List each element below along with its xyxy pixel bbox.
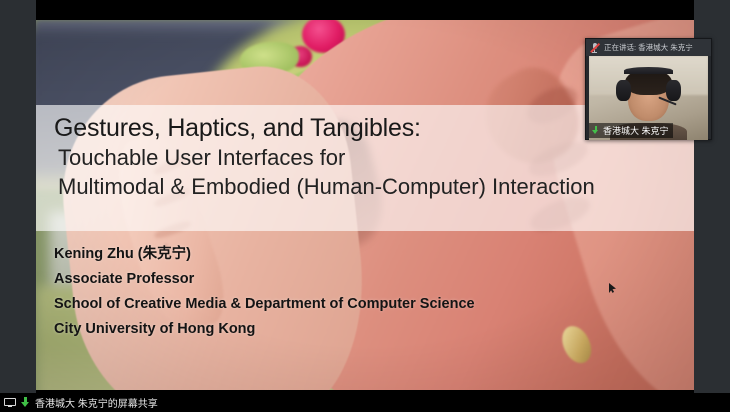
affiliation-line: Kening Zhu (朱克宁) bbox=[54, 242, 475, 267]
headphone-icon bbox=[666, 80, 680, 102]
headphone-icon bbox=[616, 80, 630, 102]
green-down-arrow-icon bbox=[591, 126, 600, 135]
slide-title-line-3: Multimodal & Embodied (Human-Computer) I… bbox=[54, 172, 694, 201]
video-thumbnail-panel[interactable]: 正在讲话: 香港城大 朱克宁 香港城大 朱克宁 bbox=[585, 38, 712, 140]
screen-share-status-bar: 香港城大 朱克宁的屏幕共享 bbox=[0, 393, 730, 412]
participant-name-badge: 香港城大 朱克宁 bbox=[589, 123, 673, 138]
slide-affiliation-block: Kening Zhu (朱克宁) Associate Professor Sch… bbox=[54, 242, 475, 342]
affiliation-line: City University of Hong Kong bbox=[54, 317, 475, 342]
monitor-icon bbox=[4, 398, 16, 408]
slide-title-line-2: Touchable User Interfaces for bbox=[54, 143, 694, 172]
green-down-arrow-icon bbox=[20, 397, 31, 408]
letterbox-top bbox=[36, 0, 694, 20]
microphone-muted-icon bbox=[590, 42, 599, 53]
affiliation-line: Associate Professor bbox=[54, 267, 475, 292]
participant-name-label: 香港城大 朱克宁 bbox=[603, 124, 669, 137]
status-bar-label: 香港城大 朱克宁的屏幕共享 bbox=[35, 395, 158, 410]
speaking-label: 正在讲话: 香港城大 朱克宁 bbox=[604, 42, 693, 53]
video-panel-header: 正在讲话: 香港城大 朱克宁 bbox=[586, 39, 711, 56]
affiliation-line: School of Creative Media & Department of… bbox=[54, 292, 475, 317]
zoom-screen-share-window: Gestures, Haptics, and Tangibles: Toucha… bbox=[0, 0, 730, 412]
